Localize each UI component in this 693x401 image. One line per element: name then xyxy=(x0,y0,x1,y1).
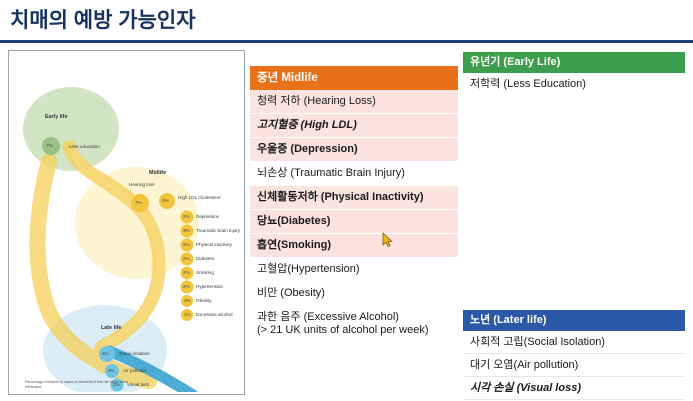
stage-label-midlife: Midlife xyxy=(149,170,166,176)
midlife-column: 중년 Midlife 청력 저하 (Hearing Loss) 고지혈증 (Hi… xyxy=(250,66,458,343)
list-item: 뇌손상 (Traumatic Brain Injury) xyxy=(250,162,458,186)
life-course-diagram xyxy=(9,51,242,392)
list-item: 대기 오염(Air pollution) xyxy=(463,354,685,377)
list-item: 고혈압(Hypertension) xyxy=(250,258,458,282)
midlife-header: 중년 Midlife xyxy=(250,66,458,90)
node-label-high-ldl: High LDL cholesterol xyxy=(178,195,220,200)
list-item: 우울증 (Depression) xyxy=(250,138,458,162)
node-label-excessive-alcohol: Excessive alcohol xyxy=(196,312,233,317)
list-item: 흡연(Smoking) xyxy=(250,234,458,258)
list-item: 과한 음주 (Excessive Alcohol) (> 21 UK units… xyxy=(250,306,458,343)
list-item: 당뇨(Diabetes) xyxy=(250,210,458,234)
node-label-depression: Depression xyxy=(196,214,219,219)
node-pct-high-ldl: 2% xyxy=(162,198,169,203)
node-pct-tbi: 3% xyxy=(183,228,190,233)
node-pct-hearing-loss: 7% xyxy=(135,200,142,205)
node-pct-air-pollution: 3% xyxy=(108,368,115,373)
node-pct-physical-inactivity: 2% xyxy=(183,242,190,247)
list-item: 사회적 고립(Social Isolation) xyxy=(463,331,685,354)
node-pct-less-education: 7% xyxy=(46,143,53,148)
node-label-physical-inactivity: Physical inactivity xyxy=(196,242,232,247)
node-pct-obesity: 1% xyxy=(184,298,191,303)
list-item: 신체활동저하 (Physical Inactivity) xyxy=(250,186,458,210)
list-item: 비만 (Obesity) xyxy=(250,282,458,306)
node-label-social-isolation: Social isolation xyxy=(119,351,150,356)
page-title: 치매의 예방 가능인자 xyxy=(10,4,196,34)
list-item: 시각 손실 (Visual loss) xyxy=(463,377,685,400)
early-life-header: 유년기 (Early Life) xyxy=(463,52,685,73)
node-label-less-education: Less education xyxy=(69,144,100,149)
node-label-air-pollution: Air pollution xyxy=(123,368,147,373)
node-pct-smoking: 2% xyxy=(183,270,190,275)
node-label-hypertension: Hypertension xyxy=(196,284,223,289)
slide-root: 치매의 예방 가능인자 xyxy=(0,0,693,401)
node-pct-depression: 2% xyxy=(183,214,190,219)
list-item: 저학력 (Less Education) xyxy=(463,73,685,95)
node-pct-excessive-alcohol: 1% xyxy=(184,312,191,317)
early-life-column: 유년기 (Early Life) 저학력 (Less Education) xyxy=(463,52,685,95)
node-label-hearing-loss: Hearing loss xyxy=(129,182,155,187)
title-bar: 치매의 예방 가능인자 xyxy=(0,0,693,43)
node-label-smoking: Smoking xyxy=(196,270,214,275)
stage-label-late-life: Late life xyxy=(101,325,121,331)
stage-label-early-life: Early life xyxy=(45,114,67,120)
later-life-header: 노년 (Later life) xyxy=(463,310,685,331)
list-item: 고지혈증 (High LDL) xyxy=(250,114,458,138)
node-pct-diabetes: 2% xyxy=(183,256,190,261)
node-label-diabetes: Diabetes xyxy=(196,256,214,261)
node-label-tbi: Traumatic brain injury xyxy=(196,228,240,233)
later-life-column: 노년 (Later life) 사회적 고립(Social Isolation)… xyxy=(463,310,685,400)
node-pct-hypertension: 2% xyxy=(183,284,190,289)
figure-footnote: Percentage reduction in cases of dementi… xyxy=(25,380,145,390)
list-item: 청력 저하 (Hearing Loss) xyxy=(250,90,458,114)
risk-factor-diagram-panel: Early life Midlife Late life Hearing los… xyxy=(8,50,245,395)
node-pct-social-isolation: 5% xyxy=(102,351,109,356)
node-label-obesity: Obesity xyxy=(196,298,212,303)
